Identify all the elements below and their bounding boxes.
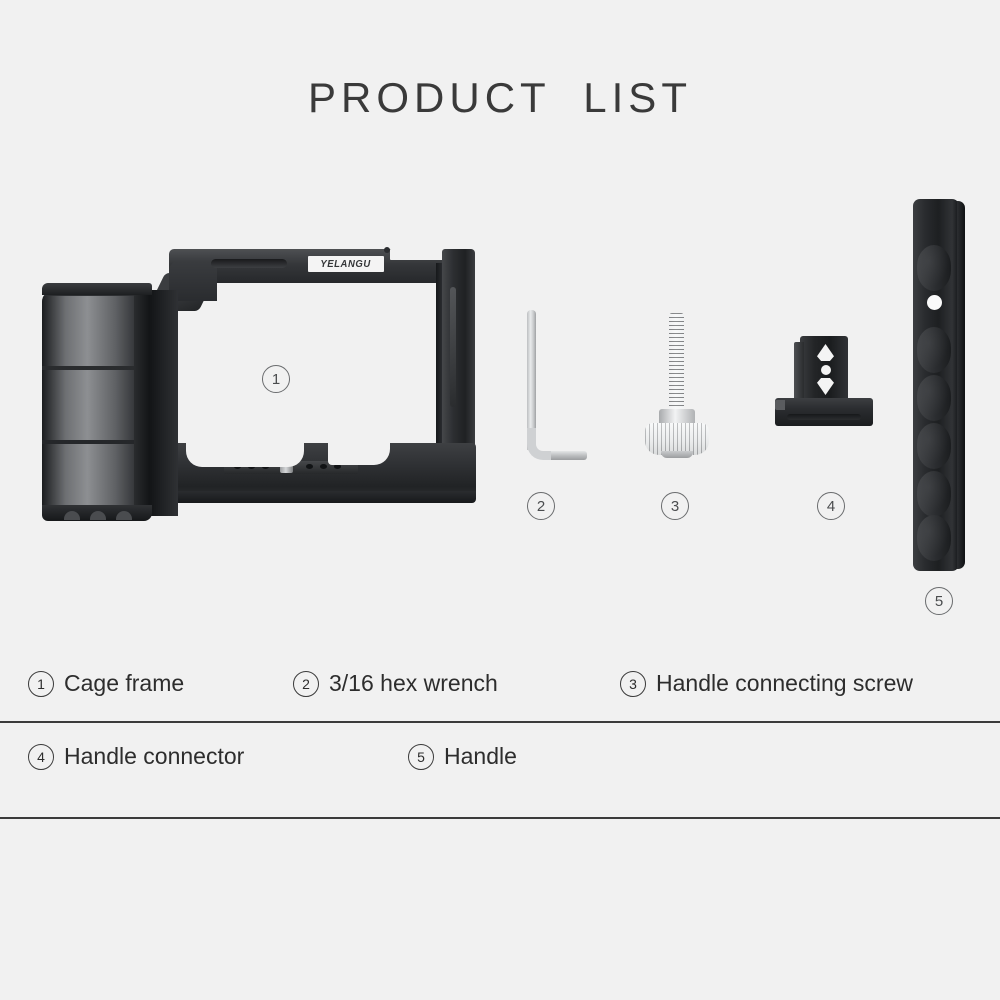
legend-label: Handle connector	[64, 743, 244, 770]
handle-grip-bump	[917, 471, 951, 517]
cage-top-notch	[390, 249, 448, 260]
legend-item-hex-wrench: 2 3/16 hex wrench	[293, 670, 498, 697]
product-handle	[913, 199, 965, 571]
legend-item-cage-frame: 1 Cage frame	[28, 670, 184, 697]
legend-item-handle-connecting-screw: 3 Handle connecting screw	[620, 670, 913, 697]
wrench-short-arm	[551, 451, 587, 460]
handle-grip-bump	[917, 245, 951, 291]
legend-number: 4	[28, 744, 54, 770]
legend: 1 Cage frame 2 3/16 hex wrench 3 Handle …	[0, 650, 1000, 825]
product-image-stage: YELANGU 1	[0, 0, 1000, 650]
callout-marker-5: 5	[925, 587, 953, 615]
handle-grip-bump	[917, 423, 951, 469]
product-cage-frame: YELANGU	[38, 243, 458, 533]
handle-grip-bump	[917, 515, 951, 561]
connector-tower-side	[794, 342, 804, 400]
legend-label: Handle	[444, 743, 517, 770]
callout-marker-4: 4	[817, 492, 845, 520]
grip-foot-notch	[90, 511, 106, 520]
cage-top-slot	[211, 259, 287, 268]
cage-hand-grip	[42, 290, 150, 516]
cage-mount-hole	[306, 464, 313, 469]
grip-foot-notch	[116, 511, 132, 520]
legend-row: 1 Cage frame 2 3/16 hex wrench 3 Handle …	[0, 650, 1000, 721]
legend-label: 3/16 hex wrench	[329, 670, 498, 697]
grip-top-cap	[42, 283, 152, 295]
cage-interior-window	[177, 283, 439, 463]
cage-left-inner-shadow	[148, 290, 178, 516]
handle-mount-hole	[927, 295, 942, 310]
cage-top-notch-dot	[384, 247, 390, 253]
legend-item-handle-connector: 4 Handle connector	[28, 743, 244, 770]
cage-base-lip	[156, 491, 476, 503]
legend-number: 5	[408, 744, 434, 770]
callout-marker-1: 1	[262, 365, 290, 393]
legend-item-handle: 5 Handle	[408, 743, 517, 770]
product-handle-connecting-screw	[645, 313, 715, 453]
connector-base-groove	[787, 414, 861, 420]
product-hex-wrench	[515, 310, 595, 470]
handle-side-edge	[957, 201, 965, 569]
cage-brand-text: YELANGU	[321, 259, 371, 270]
handle-grip-bump	[917, 327, 951, 373]
legend-label: Handle connecting screw	[656, 670, 913, 697]
grip-right-edge	[134, 290, 150, 516]
screw-knob-base	[661, 451, 693, 458]
cage-right-rail-groove	[450, 287, 456, 407]
cage-base-cutout-left	[186, 439, 304, 467]
cage-base-cutout-right	[328, 439, 390, 465]
callout-marker-2: 2	[527, 492, 555, 520]
legend-label: Cage frame	[64, 670, 184, 697]
legend-number: 3	[620, 671, 646, 697]
grip-foot-notch	[64, 511, 80, 520]
legend-number: 1	[28, 671, 54, 697]
cage-brand-label: YELANGU	[308, 256, 384, 272]
handle-grip-bump	[917, 375, 951, 421]
legend-number: 2	[293, 671, 319, 697]
connector-cutout-hole	[821, 365, 831, 375]
screw-threaded-shaft	[669, 313, 684, 413]
connector-base-tip	[775, 400, 785, 410]
product-handle-connector	[775, 336, 875, 436]
connector-base	[775, 398, 873, 426]
legend-row: 4 Handle connector 5 Handle	[0, 723, 1000, 794]
legend-divider	[0, 817, 1000, 819]
cage-mount-hole	[320, 464, 327, 469]
callout-marker-3: 3	[661, 492, 689, 520]
